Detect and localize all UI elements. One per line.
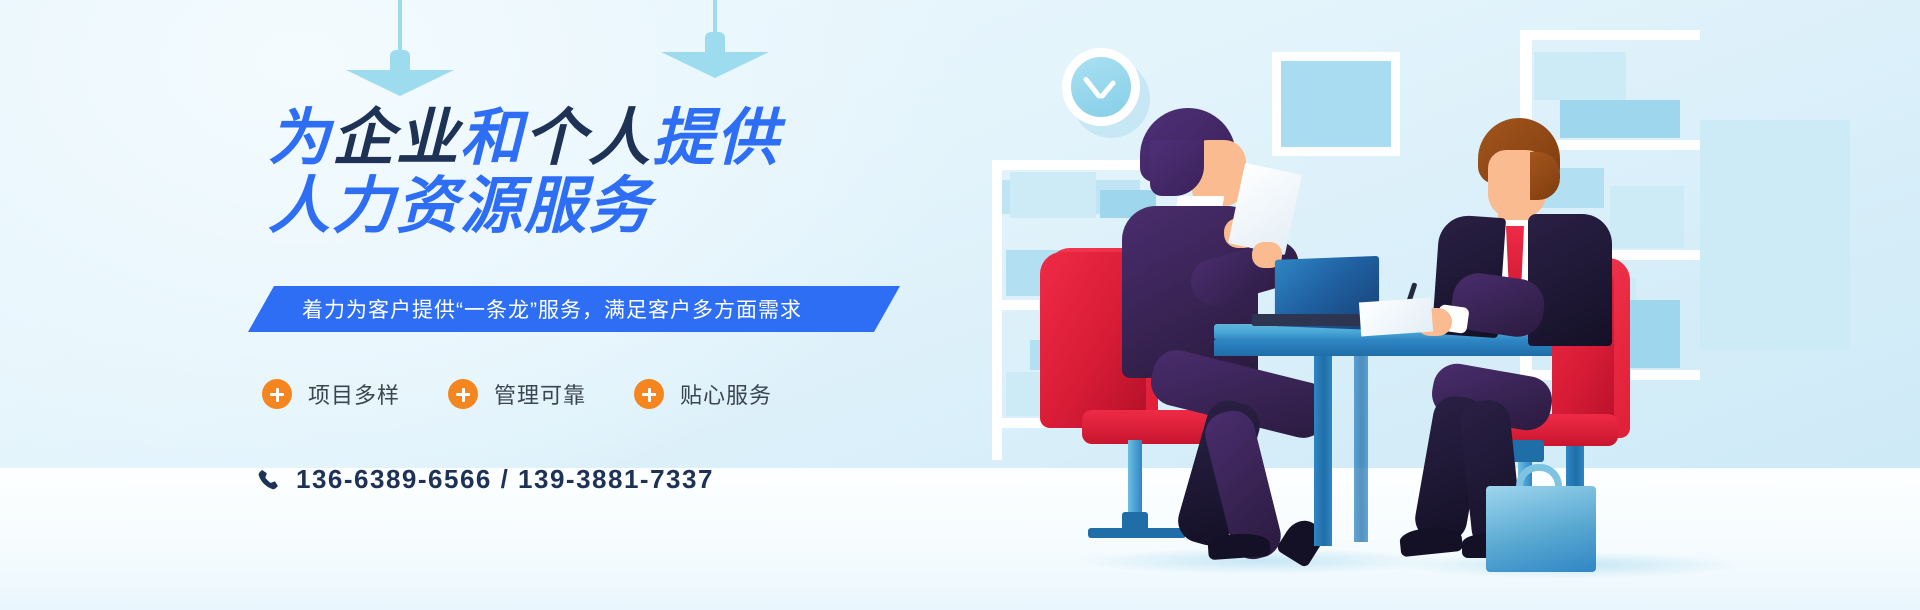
torso-right-figure-right: [1528, 214, 1612, 346]
phone-number: 136-6389-6566 / 139-3881-7337: [296, 464, 714, 495]
plus-icon: [262, 379, 292, 409]
headline-seg-5: 提供: [652, 104, 780, 173]
headline-seg-3: 和: [460, 104, 524, 173]
plus-icon: [634, 379, 664, 409]
shoe-right-figure: [1399, 525, 1463, 557]
headline-seg-2: 企业: [332, 104, 460, 173]
document-paper-right: [1359, 298, 1433, 337]
feature-label-3: 贴心服务: [680, 378, 772, 410]
contact-phone[interactable]: 136-6389-6566 / 139-3881-7337: [256, 464, 714, 495]
headline-seg-1: 为: [268, 104, 332, 173]
headline-seg-4: 个人: [524, 104, 652, 173]
feature-item-1[interactable]: 项目多样: [262, 378, 400, 410]
desk-leg: [1314, 356, 1332, 546]
chair-hub-left: [1122, 512, 1148, 532]
plus-icon: [448, 379, 478, 409]
feature-list: 项目多样 管理可靠 贴心服务: [262, 378, 772, 410]
feature-label-2: 管理可靠: [494, 378, 586, 410]
feature-label-1: 项目多样: [308, 378, 400, 410]
subtitle-ribbon: 着力为客户提供“一条龙”服务，满足客户多方面需求: [248, 286, 900, 332]
feature-item-2[interactable]: 管理可靠: [448, 378, 586, 410]
headline-line-2: 人力资源服务: [268, 176, 652, 238]
subtitle-text: 着力为客户提供“一条龙”服务，满足客户多方面需求: [248, 294, 802, 324]
briefcase: [1486, 486, 1596, 572]
headline-line-1: 为企业和个人提供: [268, 108, 780, 170]
desk-leg: [1354, 356, 1368, 542]
phone-icon: [256, 468, 280, 492]
feature-item-3[interactable]: 贴心服务: [634, 378, 772, 410]
hr-services-banner: 为企业和个人提供 人力资源服务 着力为客户提供“一条龙”服务，满足客户多方面需求…: [0, 0, 1920, 610]
chair-seat-left: [1082, 410, 1210, 444]
